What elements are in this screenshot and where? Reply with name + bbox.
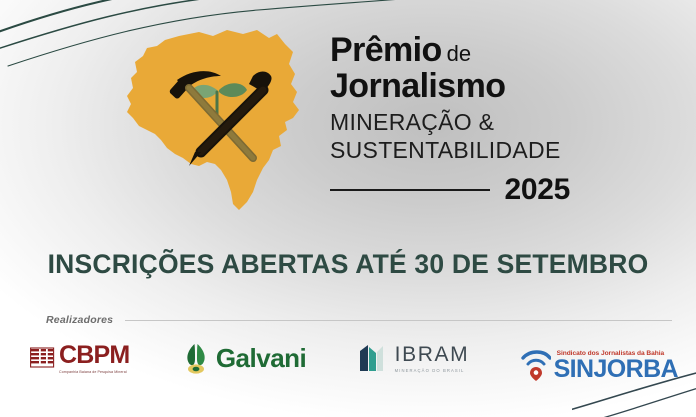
cbpm-wordmark: CBPM — [59, 343, 129, 368]
title-year-row: 2025 — [330, 173, 570, 207]
title-de-word: de — [447, 41, 471, 66]
title-line-jornalismo: Jornalismo — [330, 68, 580, 105]
year-divider-rule — [330, 189, 490, 191]
title-line-premio: Prêmiode — [330, 33, 580, 67]
sponsor-logos-row: CBPM Companhia Baiana de Pesquisa Minera… — [30, 332, 678, 384]
title-line-sustentabilidade: SUSTENTABILIDADE — [330, 136, 580, 164]
realizadores-row: Realizadores — [46, 314, 672, 326]
emblem-bahia-map — [117, 18, 317, 218]
ibram-tagline: MINERAÇÃO DO BRASIL — [395, 368, 465, 373]
sinjorba-wifi-pin-icon — [521, 347, 551, 381]
title-block: Prêmiode Jornalismo MINERAÇÃO & SUSTENTA… — [330, 33, 580, 207]
title-premio-word: Prêmio — [330, 31, 442, 69]
logo-ibram[interactable]: IBRAM MINERAÇÃO DO BRASIL — [358, 335, 470, 381]
galvani-wordmark: Galvani — [216, 345, 306, 371]
cbpm-mark-icon — [30, 345, 56, 371]
logo-sinjorba[interactable]: Sindicato dos Jornalistas da Bahia SINJO… — [521, 335, 678, 381]
logo-galvani[interactable]: Galvani — [181, 335, 306, 381]
galvani-leaf-icon — [181, 341, 211, 375]
ibram-wordmark: IBRAM — [395, 344, 470, 365]
realizadores-divider-rule — [125, 320, 672, 321]
realizadores-label: Realizadores — [46, 314, 113, 326]
title-year: 2025 — [504, 173, 570, 207]
cbpm-tagline: Companhia Baiana de Pesquisa Mineral — [59, 370, 127, 374]
poster-canvas: Prêmiode Jornalismo MINERAÇÃO & SUSTENTA… — [0, 0, 696, 417]
headline-deadline: INSCRIÇÕES ABERTAS ATÉ 30 DE SETEMBRO — [0, 249, 696, 280]
sinjorba-wordmark: SINJORBA — [554, 357, 678, 382]
ibram-mark-icon — [358, 343, 388, 373]
logo-cbpm[interactable]: CBPM Companhia Baiana de Pesquisa Minera… — [30, 335, 129, 381]
title-line-mineracao: MINERAÇÃO & — [330, 108, 580, 136]
